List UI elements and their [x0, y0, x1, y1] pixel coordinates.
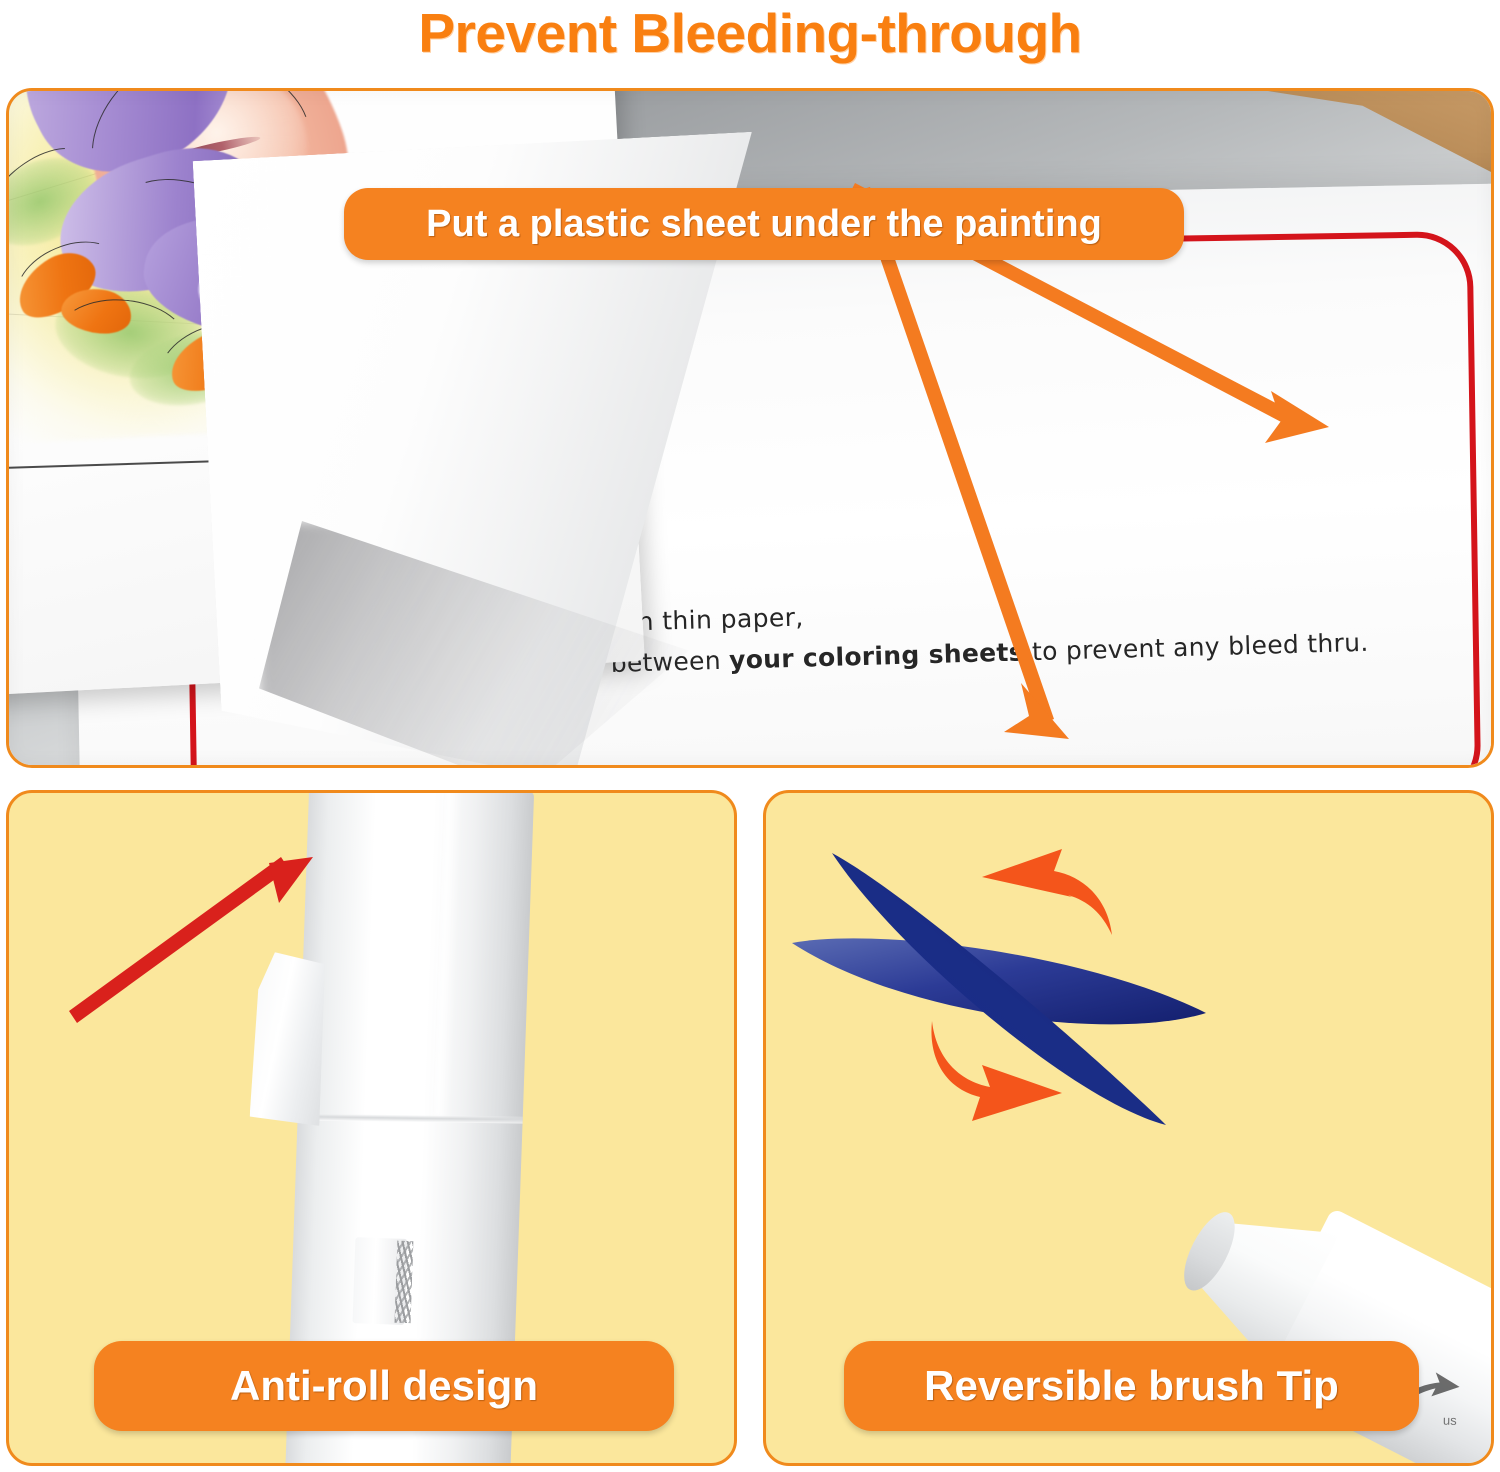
brush-tips-group [786, 835, 1306, 1165]
rotation-arrow-up-icon [982, 849, 1112, 935]
svg-text:us: us [1443, 1413, 1457, 1428]
panel-prevent-bleeding: Ifyou are coloring on thin paper, please… [6, 88, 1494, 768]
panel-anti-roll-design: Anti-roll design [6, 790, 737, 1466]
badge-put-plastic-sheet: Put a plastic sheet under the painting [344, 188, 1184, 260]
red-arrow-head [269, 857, 313, 903]
panel-reversible-brush-tip: us Reversible brush Tip [763, 790, 1494, 1466]
page-title: Prevent Bleeding-through [0, 0, 1500, 70]
infographic-page: Prevent Bleeding-through Ifyou are color… [0, 0, 1500, 1472]
badge-anti-roll-design: Anti-roll design [94, 1341, 674, 1431]
badge-reversible-brush-tip: Reversible brush Tip [844, 1341, 1419, 1431]
